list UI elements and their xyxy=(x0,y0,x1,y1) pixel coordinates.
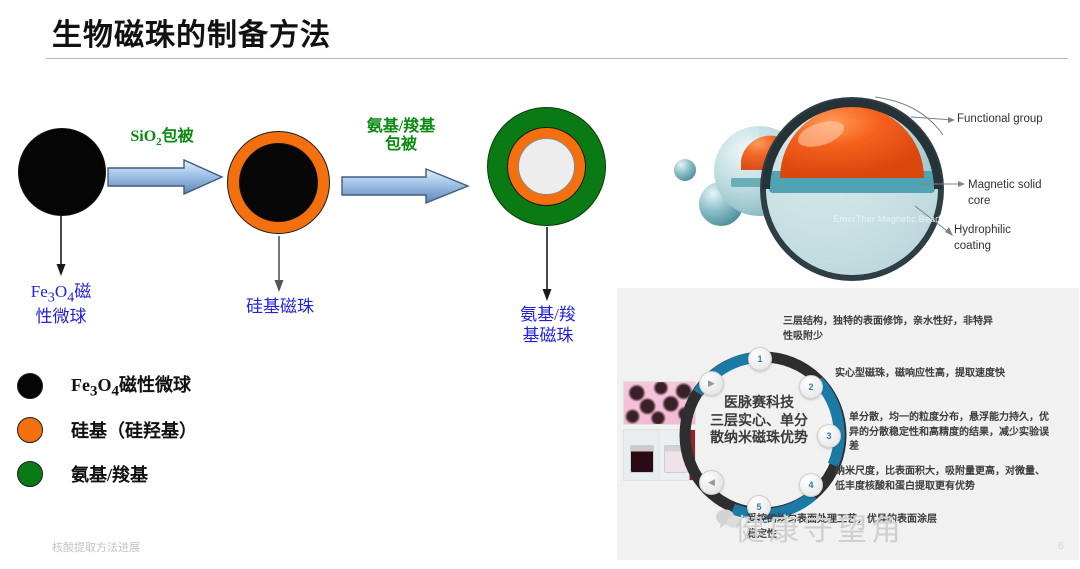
bead-stage3-core xyxy=(518,138,575,195)
legend-label-amino: 氨基/羧基 xyxy=(71,461,148,487)
arrow-label-sio2: SiO2包被 xyxy=(104,128,220,149)
ring-next-icon[interactable]: ▶ xyxy=(699,371,724,396)
caption-stage1-line1: Fe3O4磁 xyxy=(0,282,122,307)
pointer-stage3 xyxy=(540,227,554,303)
page-title: 生物磁珠的制备方法 xyxy=(52,10,331,54)
legend-item-silica: 硅基（硅羟基） xyxy=(14,408,314,452)
center-line-1: 医脉赛科技 xyxy=(681,395,837,413)
caption-stage3-line1: 氨基/羧 xyxy=(485,305,611,326)
arrow2-text-line1: 氨基/羧基 xyxy=(344,118,458,136)
ring-node-1[interactable]: 1 xyxy=(748,347,772,371)
bead-brand-text: EmerTher Magnetic Bead xyxy=(797,214,977,224)
vial-dark xyxy=(630,445,654,473)
arrow1-text-pre: SiO xyxy=(130,128,156,145)
legend-item-magnetite: Fe3O4磁性微球 xyxy=(14,364,314,408)
ring-prev-icon[interactable]: ◀ xyxy=(699,470,724,495)
footer-note: 核酸提取方法进展 xyxy=(52,539,140,555)
infographic-center-title: 医脉赛科技 三层实心、单分 散纳米磁珠优势 xyxy=(681,395,837,448)
bead-stage3-silica-layer xyxy=(507,127,586,206)
process-arrow-2 xyxy=(340,166,472,206)
ring-node-4[interactable]: 4 xyxy=(799,473,823,497)
legend-dot-orange-icon xyxy=(17,417,43,443)
bead-stage3-amino xyxy=(487,107,606,226)
arrow2-text-line2: 包被 xyxy=(344,136,458,154)
caption-stage3: 氨基/羧 基磁珠 xyxy=(485,305,611,346)
lg0-sub2: 4 xyxy=(112,384,120,400)
infographic-item-1: 三层结构，独特的表面修饰，亲水性好，非特异性吸附少 xyxy=(783,315,998,344)
caption-stage2: 硅基磁珠 xyxy=(210,297,350,318)
cap1-tail: 磁 xyxy=(74,282,91,301)
caption-stage1: Fe3O4磁 性微球 xyxy=(0,282,122,327)
infographic-item-4: 纳米尺度，比表面积大，吸附量更高，对微量、低丰度核酸和蛋白提取更有优势 xyxy=(835,465,1050,494)
legend-item-amino: 氨基/羧基 xyxy=(14,452,314,496)
label-magnetic-solid-core: Magnetic solid core xyxy=(968,178,1058,209)
bead-stage1-magnetite xyxy=(18,128,106,216)
legend-label-magnetite: Fe3O4磁性微球 xyxy=(71,371,191,401)
bead-stage2-silica xyxy=(227,131,330,234)
lg0-tail: 磁性微球 xyxy=(119,375,191,395)
pointer-stage1 xyxy=(54,216,68,278)
center-line-2: 三层实心、单分 xyxy=(681,413,837,431)
cap1-o: O xyxy=(55,282,67,301)
lg0-pre: Fe xyxy=(71,375,90,395)
cap1-fe: Fe xyxy=(31,282,48,301)
lg0-mid: O xyxy=(97,375,111,395)
process-arrow-1 xyxy=(106,158,226,198)
caption-stage2-line1: 硅基磁珠 xyxy=(210,297,350,318)
legend: Fe3O4磁性微球 硅基（硅羟基） 氨基/羧基 xyxy=(14,364,314,496)
infographic-item-2: 实心型磁珠，磁响应性高，提取速度快 xyxy=(835,367,1050,382)
page-number: 6 xyxy=(1058,541,1064,552)
legend-dot-green-icon xyxy=(17,461,43,487)
title-divider xyxy=(46,58,1068,59)
center-line-3: 散纳米磁珠优势 xyxy=(681,430,837,448)
legend-label-silica: 硅基（硅羟基） xyxy=(71,417,197,443)
legend-dot-black-icon xyxy=(17,373,43,399)
bead-stage2-core xyxy=(239,143,318,222)
infographic-item-3: 单分散，均一的粒度分布，悬浮能力持久，优异的分散稳定性和高精度的结果，减少实验误… xyxy=(849,411,1055,455)
bead-illustration: Functional group Magnetic solid core Hyd… xyxy=(663,86,1080,286)
arrow1-text-tail: 包被 xyxy=(162,128,194,145)
caption-stage3-line2: 基磁珠 xyxy=(485,326,611,347)
label-hydrophilic-coating: Hydrophilic coating xyxy=(954,223,1046,254)
watermark-text: 健康守望角 xyxy=(735,505,905,549)
arrow-label-amino: 氨基/羧基 包被 xyxy=(344,118,458,155)
caption-stage1-line2: 性微球 xyxy=(0,307,122,328)
cap1-sub1: 3 xyxy=(48,289,55,305)
satellite-bead-small xyxy=(674,159,696,181)
label-functional-group: Functional group xyxy=(957,112,1049,128)
pointer-stage2 xyxy=(272,236,286,294)
